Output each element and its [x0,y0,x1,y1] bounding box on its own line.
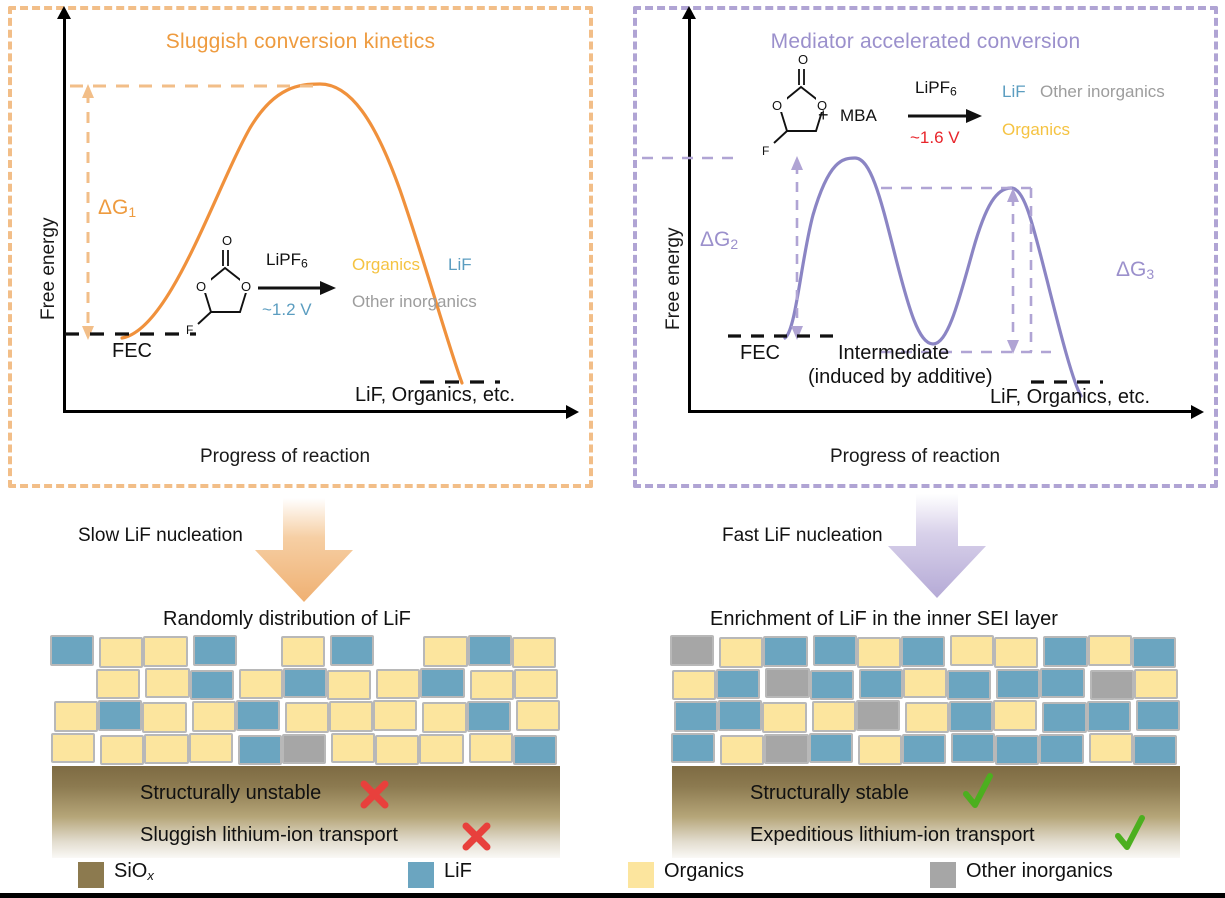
sei-tile-organics [144,734,188,765]
sei-tile-organics [1134,669,1178,700]
right-check-icon-2 [1112,814,1148,854]
svg-text:O: O [196,279,206,294]
sei-tile-lif [1042,702,1086,733]
svg-text:F: F [186,323,193,337]
sei-tile-organics [419,734,463,765]
right-sei-caption: Enrichment of LiF in the inner SEI layer [710,608,1058,631]
sei-tile-other [764,734,808,765]
sei-tile-organics [719,637,763,668]
sei-tile-organics [145,668,189,699]
left-delta-g1-label: ΔG1 [98,196,136,220]
sei-tile-organics [762,702,806,733]
left-substrate-line-1: Structurally unstable [140,782,321,805]
left-down-arrow-icon [247,498,367,608]
right-fec-label: FEC [740,342,780,365]
sei-tile-lif [236,700,280,731]
sei-tile-lif [901,636,945,667]
right-nucleation-label: Fast LiF nucleation [722,525,883,547]
sei-tile-lif [1039,734,1083,765]
right-down-arrow-icon [880,494,1000,604]
left-reagent-label: LiPF6 [266,250,308,271]
sei-tile-lif [330,635,374,666]
sei-tile-lif [813,635,857,666]
left-sei-caption: Randomly distribution of LiF [163,608,411,631]
sei-tile-organics [993,700,1037,731]
legend-label-lif: LiF [444,860,472,883]
sei-tile-organics [239,669,283,700]
sei-tile-other [856,700,900,731]
sei-tile-organics [373,700,417,731]
sei-tile-organics [950,635,994,666]
sei-tile-other [765,668,809,699]
sei-tile-other [1090,670,1134,701]
sei-tile-lif [947,670,991,701]
sei-tile-organics [96,669,140,700]
legend-label-other-inorganics: Other inorganics [966,860,1113,883]
sei-tile-organics [470,670,514,701]
sei-tile-organics [281,636,325,667]
sei-tile-organics [1088,635,1132,666]
legend-swatch-organics [628,862,654,888]
sei-tile-organics [903,668,947,699]
right-intermediate-label-line2: (induced by additive) [808,366,993,389]
left-reaction-arrow-icon [256,276,346,300]
right-sei-mosaic [672,636,1180,766]
sei-tile-lif [674,701,718,732]
sei-tile-lif [467,701,511,732]
sei-tile-organics [857,637,901,668]
sei-tile-organics [51,733,95,764]
sei-tile-lif [50,635,94,666]
left-sei-mosaic [52,636,560,766]
sei-tile-organics [376,669,420,700]
sei-tile-organics [469,733,513,764]
sei-tile-lif [190,670,234,701]
left-substrate-line-2: Sluggish lithium-ion transport [140,824,398,847]
sei-tile-lif [420,668,464,699]
left-fec-label: FEC [112,340,152,363]
sei-tile-organics [54,701,98,732]
sei-tile-organics [858,735,902,766]
sei-tile-organics [375,735,419,766]
sei-tile-other [670,635,714,666]
sei-tile-lif [1043,636,1087,667]
sei-tile-organics [331,733,375,764]
sei-tile-organics [422,702,466,733]
sei-tile-organics [189,733,233,764]
sei-tile-lif [995,735,1039,766]
left-voltage-label: ~1.2 V [262,300,312,320]
svg-text:O: O [241,279,251,294]
sei-tile-lif [951,733,995,764]
sei-tile-lif [809,733,853,764]
sei-tile-lif [1133,735,1177,766]
sei-tile-lif [238,735,282,766]
sei-tile-lif [283,668,327,699]
right-delta-g3-label: ΔG3 [1116,258,1154,282]
sei-tile-lif [718,700,762,731]
sei-tile-organics [327,670,371,701]
legend-swatch-siox [78,862,104,888]
sei-tile-lif [810,670,854,701]
svg-text:O: O [222,233,232,248]
sei-tile-organics [812,701,856,732]
sei-tile-lif [513,735,557,766]
sei-tile-organics [423,636,467,667]
sei-tile-lif [949,701,993,732]
sei-tile-lif [98,700,142,731]
sei-tile-lif [859,669,903,700]
left-product-organics: Organics [352,255,420,275]
right-substrate-line-1: Structurally stable [750,782,909,805]
right-substrate-line-2: Expeditious lithium-ion transport [750,824,1035,847]
sei-tile-organics [329,701,373,732]
sei-tile-organics [512,637,556,668]
right-delta-g2-label: ΔG2 [700,228,738,252]
sei-tile-organics [994,637,1038,668]
left-product-lif: LiF [448,255,472,275]
sei-tile-lif [468,635,512,666]
right-intermediate-label-line1: Intermediate [838,342,949,365]
sei-tile-organics [100,735,144,766]
sei-tile-lif [1040,668,1084,699]
right-check-icon-1 [960,772,996,812]
left-cross-icon-1 [358,778,392,812]
left-nucleation-label: Slow LiF nucleation [78,525,243,547]
sei-tile-lif [193,635,237,666]
legend-label-siox: SiOx [114,860,154,883]
sei-tile-organics [905,702,949,733]
sei-tile-lif [1087,701,1131,732]
sei-tile-lif [996,669,1040,700]
sei-tile-lif [1132,637,1176,668]
legend-swatch-other-inorganics [930,862,956,888]
right-product-label: LiF, Organics, etc. [990,386,1150,409]
sei-tile-organics [99,637,143,668]
left-product-other-inorganics: Other inorganics [352,292,477,312]
left-product-label: LiF, Organics, etc. [355,384,515,407]
sei-tile-lif [763,636,807,667]
sei-tile-lif [716,669,760,700]
legend-label-organics: Organics [664,860,744,883]
sei-tile-organics [143,636,187,667]
sei-tile-organics [1089,733,1133,764]
left-cross-icon-2 [460,820,494,854]
sei-tile-organics [720,735,764,766]
sei-tile-organics [285,702,329,733]
bottom-rule [0,893,1225,898]
sei-tile-organics [672,670,716,701]
legend-swatch-lif [408,862,434,888]
sei-tile-organics [516,700,560,731]
sei-tile-lif [1136,700,1180,731]
sei-tile-organics [142,702,186,733]
sei-tile-organics [514,669,558,700]
sei-tile-other [282,734,326,765]
sei-tile-organics [192,701,236,732]
sei-tile-lif [671,733,715,764]
sei-tile-lif [902,734,946,765]
